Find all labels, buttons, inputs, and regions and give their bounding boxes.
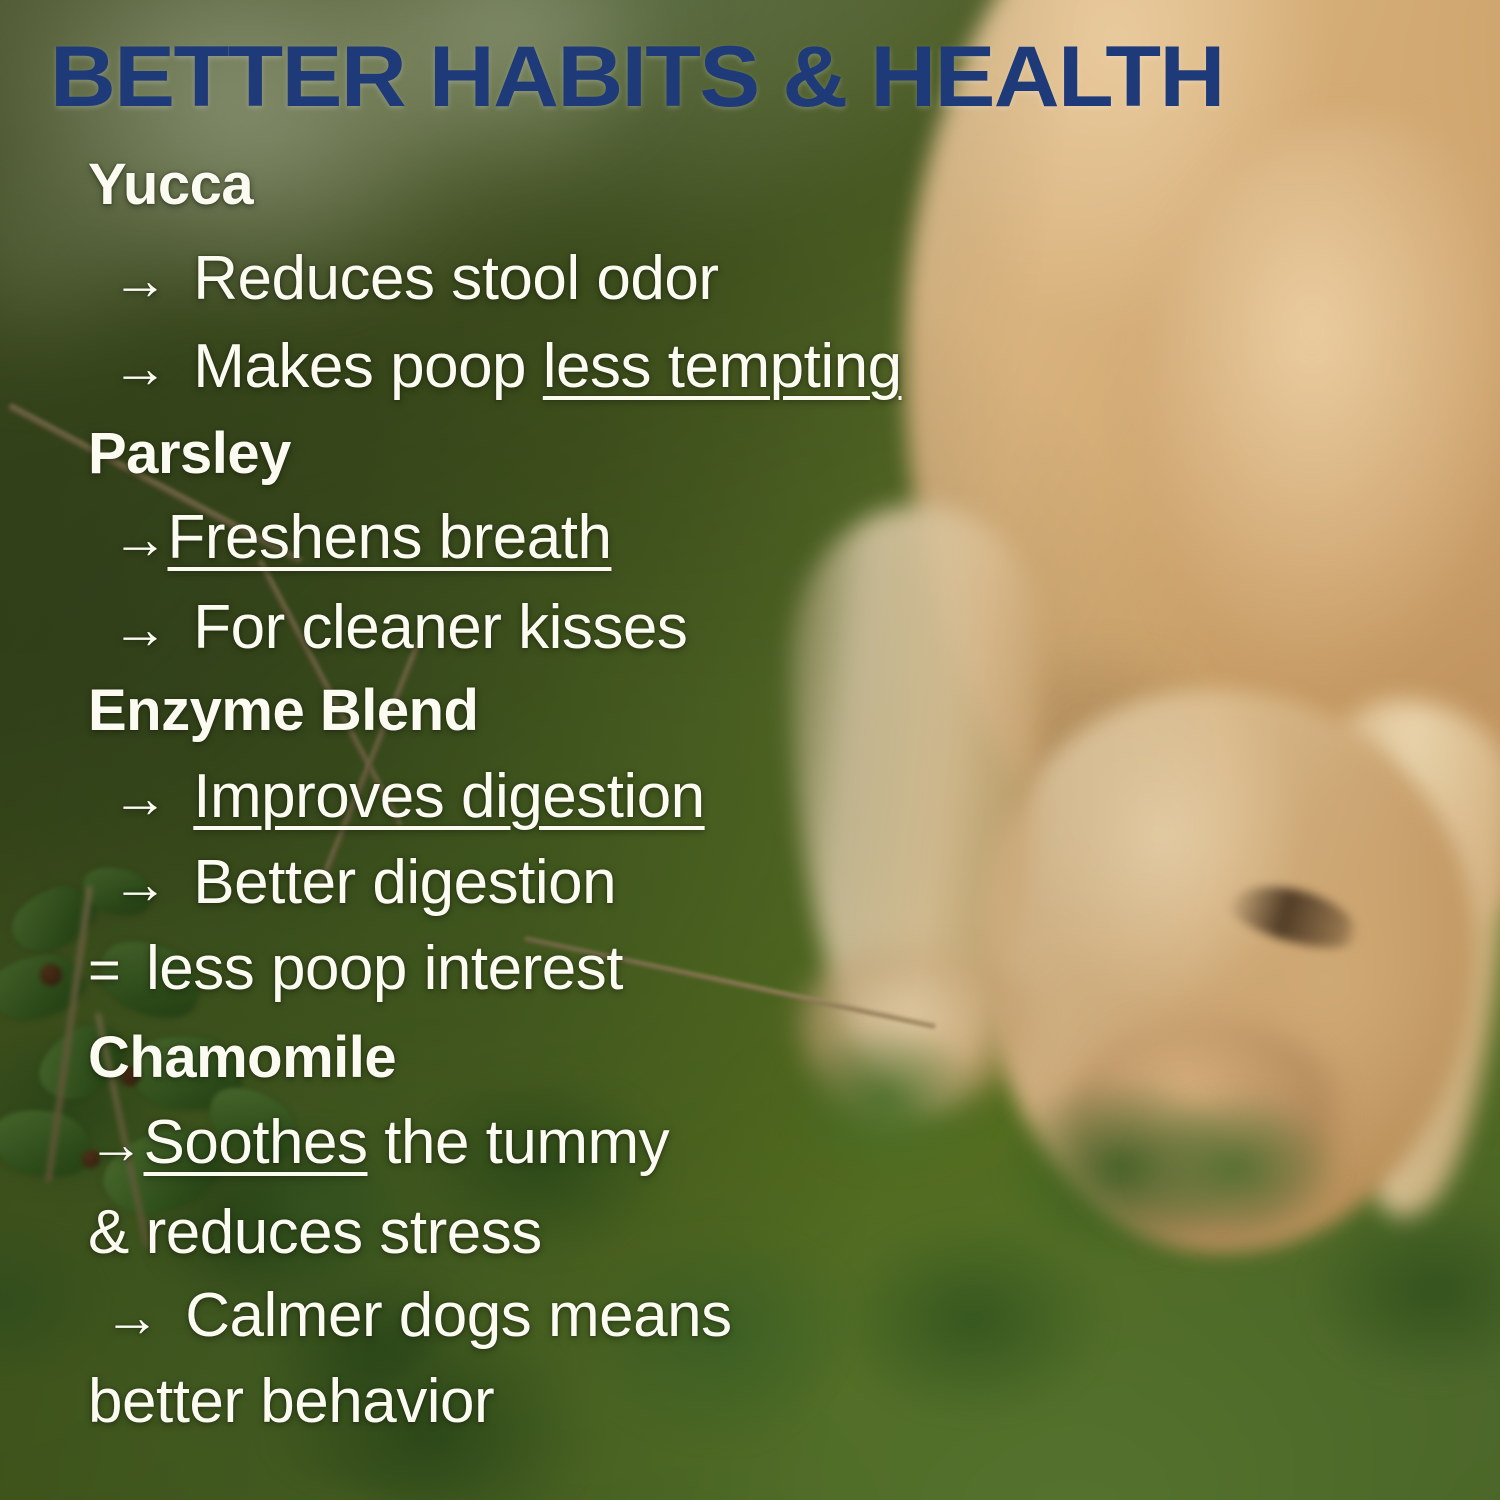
benefit-text: Calmer dogs means [185, 1281, 731, 1350]
benefit-text: better behavior [88, 1367, 494, 1436]
benefit-line-continuation: = less poop interest [88, 938, 623, 1000]
arrow-icon: → [112, 336, 193, 399]
benefit-text-underlined: Improves digestion [193, 762, 704, 831]
benefit-text: Makes poop [193, 332, 543, 401]
benefit-text: less poop interest [146, 934, 623, 1003]
benefit-text: the tummy [368, 1108, 670, 1177]
benefit-line: → For cleaner kisses [112, 597, 687, 659]
benefit-line: → Makes poop less tempting [112, 336, 902, 398]
benefit-text-underlined: Freshens breath [168, 503, 612, 572]
benefit-line-continuation: & reduces stress [88, 1202, 542, 1264]
arrow-icon: → [112, 852, 193, 915]
benefit-line: →Soothes the tummy [88, 1112, 669, 1174]
benefit-line: → Calmer dogs means [104, 1285, 732, 1347]
benefit-text: & reduces stress [88, 1198, 542, 1267]
arrow-icon: → [112, 507, 168, 570]
benefit-line: → Improves digestion [112, 766, 705, 828]
benefit-line: → Better digestion [112, 852, 616, 914]
section-heading: Parsley [88, 425, 291, 483]
section-heading: Enzyme Blend [88, 682, 478, 740]
benefit-line: →Freshens breath [112, 507, 611, 569]
benefit-line-continuation: better behavior [88, 1371, 494, 1433]
section-heading: Yucca [88, 156, 253, 214]
arrow-icon: → [112, 766, 193, 829]
section-heading: Chamomile [88, 1029, 396, 1087]
arrow-icon: → [112, 248, 193, 311]
benefit-text-underlined: less tempting [543, 332, 902, 401]
page-title: BETTER HABITS & HEALTH [50, 34, 1500, 120]
arrow-icon: → [104, 1285, 185, 1348]
benefit-text: Better digestion [193, 848, 616, 917]
arrow-icon: → [112, 597, 193, 660]
benefit-text: For cleaner kisses [193, 593, 687, 662]
benefit-text: Reduces stool odor [193, 244, 718, 313]
arrow-icon: → [88, 1112, 144, 1175]
benefit-line: → Reduces stool odor [112, 248, 719, 310]
equals-sign: = [88, 938, 146, 1001]
benefit-text-underlined: Soothes [144, 1108, 368, 1177]
